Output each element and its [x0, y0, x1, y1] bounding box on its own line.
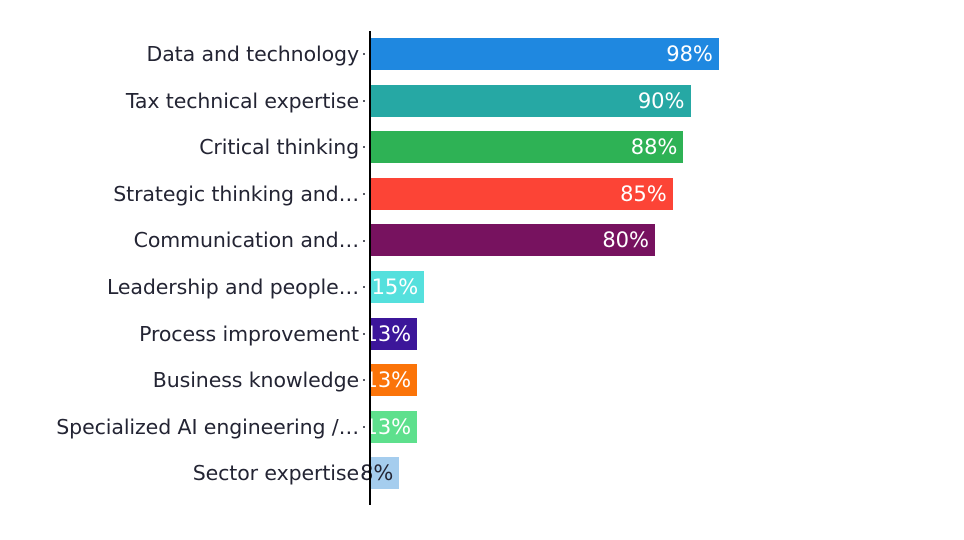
- chart-row: Tax technical expertise 90%: [0, 78, 964, 125]
- chart-row: Business knowledge 13%: [0, 357, 964, 404]
- bar-container[interactable]: 13%: [371, 364, 417, 396]
- bar-chart: Data and technology 98% Tax technical ex…: [0, 0, 964, 540]
- bar-rows: Data and technology 98% Tax technical ex…: [0, 31, 964, 497]
- bar-value-label: 13%: [364, 411, 411, 443]
- category-label: Strategic thinking and…: [113, 171, 359, 218]
- axis-tick-marker: [363, 146, 365, 148]
- category-label: Data and technology: [147, 31, 359, 78]
- category-label: Communication and…: [134, 217, 359, 264]
- bar-container[interactable]: 98%: [371, 38, 719, 70]
- chart-row: Sector expertise 8%: [0, 450, 964, 497]
- chart-row: Leadership and people… 15%: [0, 264, 964, 311]
- bar[interactable]: 13%: [371, 411, 417, 443]
- bar-value-label: 85%: [620, 178, 667, 210]
- bar-container[interactable]: 85%: [371, 178, 673, 210]
- bar-value-label: 80%: [602, 224, 649, 256]
- category-label: Process improvement: [139, 311, 359, 358]
- category-label: Specialized AI engineering /…: [56, 404, 359, 451]
- bar[interactable]: 13%: [371, 364, 417, 396]
- category-label: Tax technical expertise: [126, 78, 359, 125]
- axis-tick-marker: [363, 53, 365, 55]
- category-label: Sector expertise: [193, 450, 359, 497]
- category-label: Business knowledge: [153, 357, 359, 404]
- bar[interactable]: 90%: [371, 85, 691, 117]
- bar[interactable]: 8%: [371, 457, 399, 489]
- bar-value-label: 15%: [372, 271, 419, 303]
- bar-container[interactable]: 88%: [371, 131, 683, 163]
- axis-tick-marker: [363, 193, 365, 195]
- bar-value-label: 8%: [360, 457, 393, 489]
- bar[interactable]: 88%: [371, 131, 683, 163]
- bar-value-label: 13%: [364, 318, 411, 350]
- bar[interactable]: 98%: [371, 38, 719, 70]
- category-label: Critical thinking: [199, 124, 359, 171]
- bar-container[interactable]: 90%: [371, 85, 691, 117]
- bar-value-label: 88%: [631, 131, 678, 163]
- chart-row: Data and technology 98%: [0, 31, 964, 78]
- bar-container[interactable]: 15%: [371, 271, 424, 303]
- chart-row: Strategic thinking and… 85%: [0, 171, 964, 218]
- bar-value-label: 98%: [666, 38, 713, 70]
- category-label: Leadership and people…: [107, 264, 359, 311]
- bar-container[interactable]: 80%: [371, 224, 655, 256]
- bar-container[interactable]: 13%: [371, 411, 417, 443]
- chart-row: Critical thinking 88%: [0, 124, 964, 171]
- axis-tick-marker: [363, 100, 365, 102]
- bar[interactable]: 85%: [371, 178, 673, 210]
- category-axis-spine: [369, 31, 371, 505]
- bar[interactable]: 15%: [371, 271, 424, 303]
- plot-area: Data and technology 98% Tax technical ex…: [0, 0, 964, 540]
- bar-container[interactable]: 13%: [371, 318, 417, 350]
- axis-tick-marker: [363, 240, 365, 242]
- bar-value-label: 90%: [638, 85, 685, 117]
- bar-value-label: 13%: [364, 364, 411, 396]
- bar[interactable]: 80%: [371, 224, 655, 256]
- bar[interactable]: 13%: [371, 318, 417, 350]
- bar-container[interactable]: 8%: [371, 457, 399, 489]
- chart-row: Specialized AI engineering /… 13%: [0, 404, 964, 451]
- chart-row: Process improvement 13%: [0, 311, 964, 358]
- chart-row: Communication and… 80%: [0, 217, 964, 264]
- axis-tick-marker: [363, 286, 365, 288]
